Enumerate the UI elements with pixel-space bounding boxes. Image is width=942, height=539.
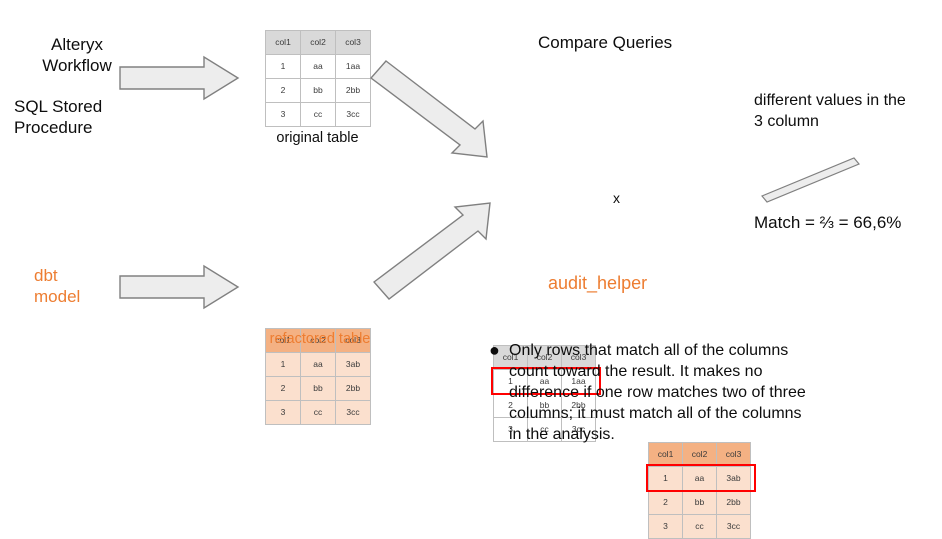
table-cell: 1 (266, 55, 301, 79)
table-cell: 1 (266, 353, 301, 377)
table-cell: 2 (266, 377, 301, 401)
header-cell: col1 (266, 31, 301, 55)
table-row: 3 cc 3cc (649, 515, 751, 539)
table-cell: cc (683, 515, 717, 539)
table-cell: aa (301, 55, 336, 79)
table-row: 2 bb 2bb (649, 491, 751, 515)
table-cell: 1 (649, 467, 683, 491)
table-header-row: col1 col2 col3 (266, 31, 371, 55)
table-cell: 2 (266, 79, 301, 103)
table-row: 3 cc 3cc (266, 401, 371, 425)
compare-right-table-wrap: col1 col2 col3 1 aa 3ab 2 bb 2bb 3 cc 3c… (648, 442, 942, 539)
table-cell: 3ab (717, 467, 751, 491)
table-cell: 3 (649, 515, 683, 539)
header-cell: col1 (649, 443, 683, 467)
table-cell: 3 (266, 401, 301, 425)
table-cell: 2 (649, 491, 683, 515)
header-cell: col3 (717, 443, 751, 467)
table-cell: aa (683, 467, 717, 491)
table-cell: bb (683, 491, 717, 515)
compare-right-table: col1 col2 col3 1 aa 3ab 2 bb 2bb 3 cc 3c… (648, 442, 751, 539)
table-cell: 3ab (336, 353, 371, 377)
table-cell: aa (301, 353, 336, 377)
table-cell: bb (301, 377, 336, 401)
match-result-text: Match = ⅔ = 66,6% (754, 212, 901, 234)
pointer-line-icon (758, 152, 868, 210)
table-cell: cc (301, 401, 336, 425)
table-cell: 3cc (336, 401, 371, 425)
header-cell: col2 (301, 31, 336, 55)
table-cell: 2bb (717, 491, 751, 515)
note-text: Only rows that match all of the columns … (509, 340, 909, 445)
arrow-diagonal-up-right (358, 185, 523, 305)
header-cell: col3 (336, 31, 371, 55)
note-bullet-list: ● Only rows that match all of the column… (489, 340, 909, 445)
table-cell: 3 (266, 103, 301, 127)
table-cell: bb (301, 79, 336, 103)
annotation-different-values: different values in the 3 column (754, 90, 942, 132)
header-cell: col2 (683, 443, 717, 467)
multiply-symbol: x (613, 190, 620, 206)
table-row: 1 aa 3ab (649, 467, 751, 491)
bullet-icon: ● (489, 340, 509, 361)
diagram-title: Compare Queries (538, 32, 672, 53)
source-label-sql-stored-procedure: SQL Stored Procedure (14, 96, 144, 138)
table-row: 2 bb 2bb (266, 377, 371, 401)
table-cell: cc (301, 103, 336, 127)
table-cell: 2bb (336, 377, 371, 401)
list-item: ● Only rows that match all of the column… (489, 340, 909, 445)
label-audit-helper: audit_helper (548, 272, 647, 295)
arrow-right-bottom (118, 264, 240, 310)
caption-refactored-table: refactored table (245, 330, 395, 348)
table-cell: 3cc (717, 515, 751, 539)
arrow-right-top (118, 55, 240, 101)
table-header-row: col1 col2 col3 (649, 443, 751, 467)
table-row: 1 aa 3ab (266, 353, 371, 377)
arrow-diagonal-down-right (355, 55, 520, 165)
